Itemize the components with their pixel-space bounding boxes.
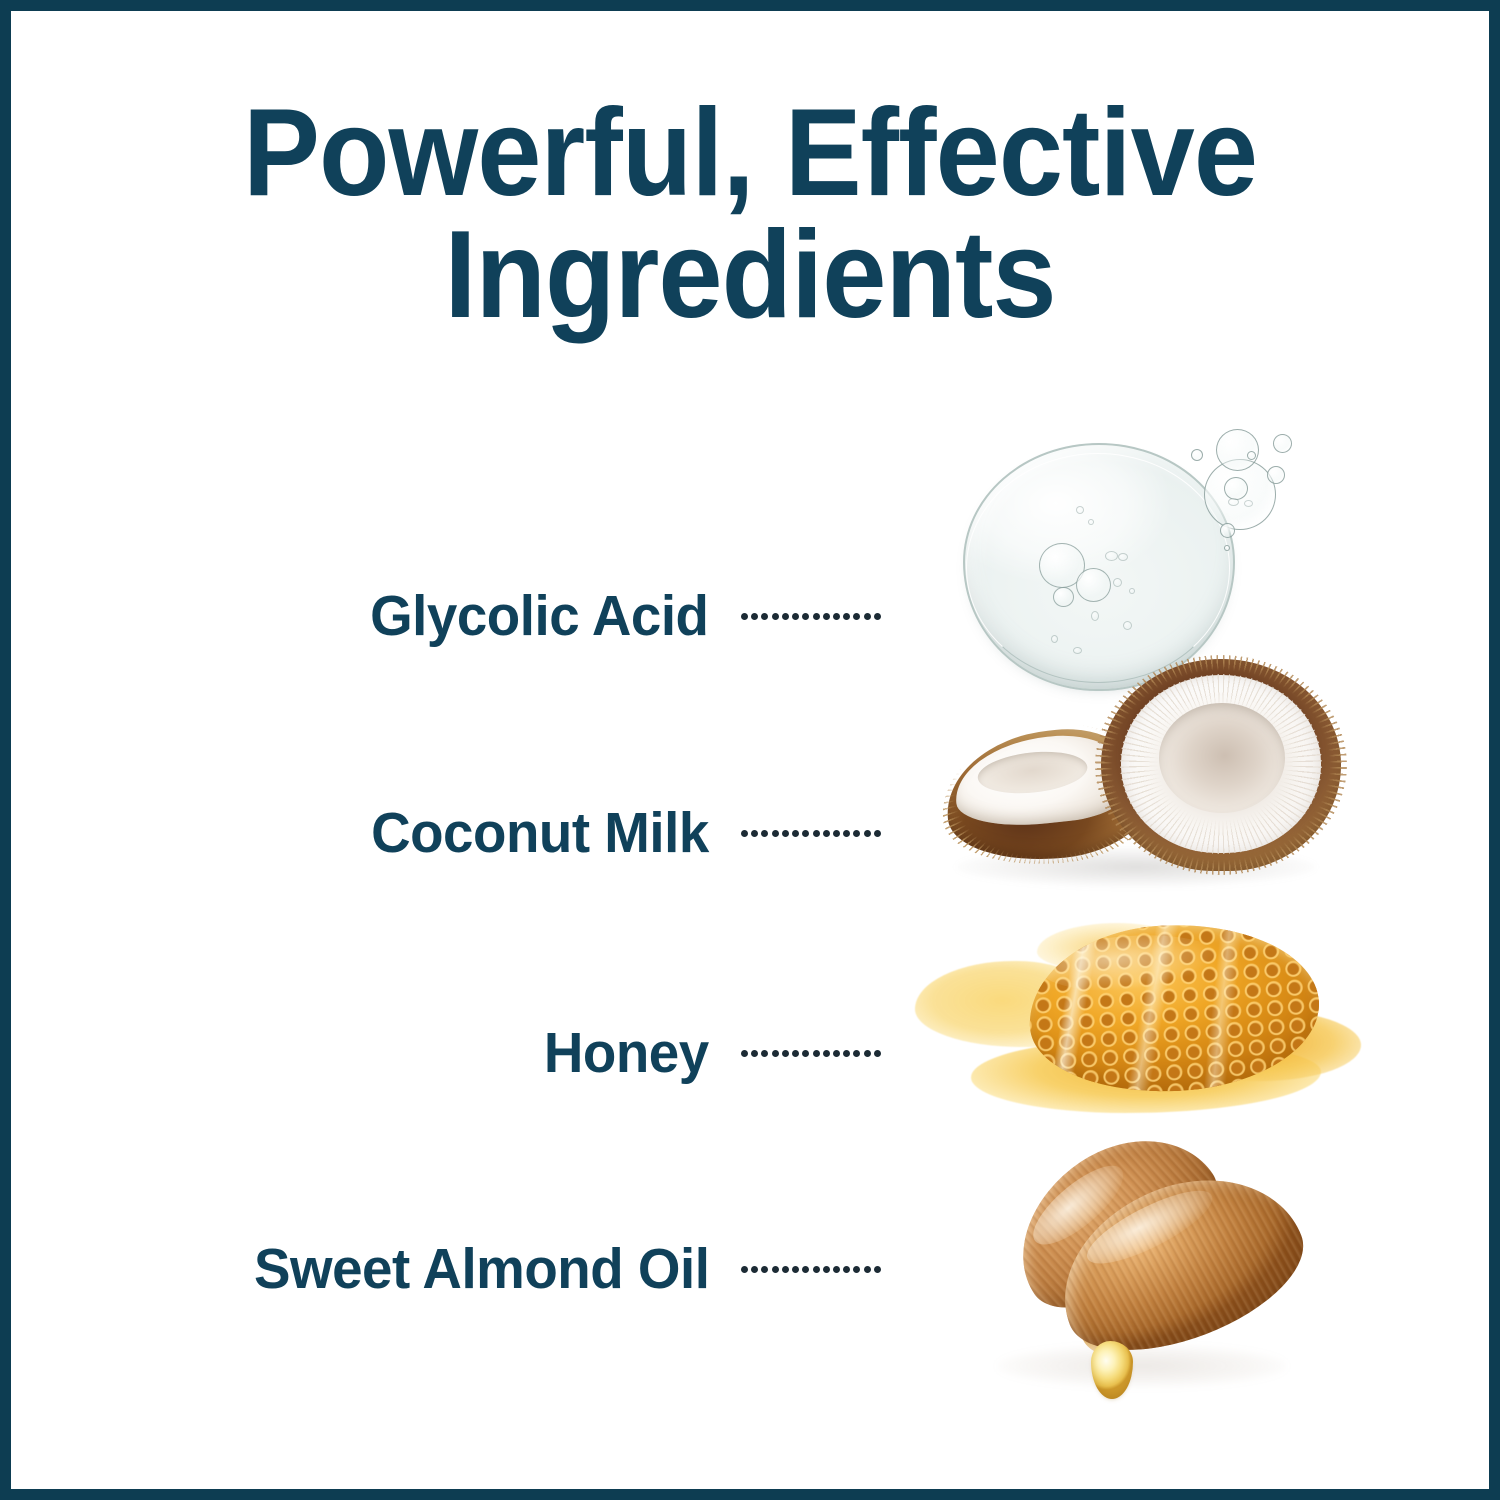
floating-bubble (1267, 466, 1285, 484)
bubble-inner-highlight (1224, 477, 1248, 500)
gel-inner-bubble (1053, 587, 1074, 607)
gel-micro-bubble (1105, 551, 1118, 561)
ingredient-infographic-card: Powerful, Effective Ingredients Glycolic… (0, 0, 1500, 1500)
gel-micro-bubble (1118, 553, 1128, 561)
honeycomb (1024, 915, 1325, 1101)
gel-micro-bubble (1123, 621, 1132, 630)
gel-micro-bubble (1051, 635, 1058, 643)
almond-shadow (997, 1345, 1287, 1387)
gel-inner-bubble (1076, 568, 1111, 602)
floating-bubble (1273, 434, 1292, 453)
gel-micro-bubble (1088, 519, 1094, 525)
bubble-inner-highlight (1228, 498, 1239, 506)
glycolic-acid-gel-image (963, 443, 1235, 693)
coconut-cavity (1159, 703, 1285, 813)
floating-bubble (1220, 523, 1235, 538)
gel-micro-bubble (1113, 578, 1122, 587)
coconut-half-large (1101, 659, 1341, 871)
honey-image (911, 909, 1361, 1119)
gel-micro-bubble (1073, 647, 1082, 654)
gel-micro-bubble (1076, 506, 1084, 514)
coconut-image (946, 659, 1341, 887)
ingredient-imagery (11, 11, 1489, 1489)
floating-bubble (1216, 429, 1259, 471)
floating-bubble (1224, 545, 1230, 551)
gel-micro-bubble (1129, 588, 1135, 594)
almond-image (971, 1149, 1331, 1449)
card-canvas: Powerful, Effective Ingredients Glycolic… (11, 11, 1489, 1489)
bubble-inner-highlight (1244, 500, 1253, 507)
almond-oil-droplet (1091, 1341, 1133, 1399)
floating-bubble (1247, 451, 1256, 460)
floating-bubble (1191, 449, 1203, 461)
gel-micro-bubble (1091, 611, 1099, 621)
